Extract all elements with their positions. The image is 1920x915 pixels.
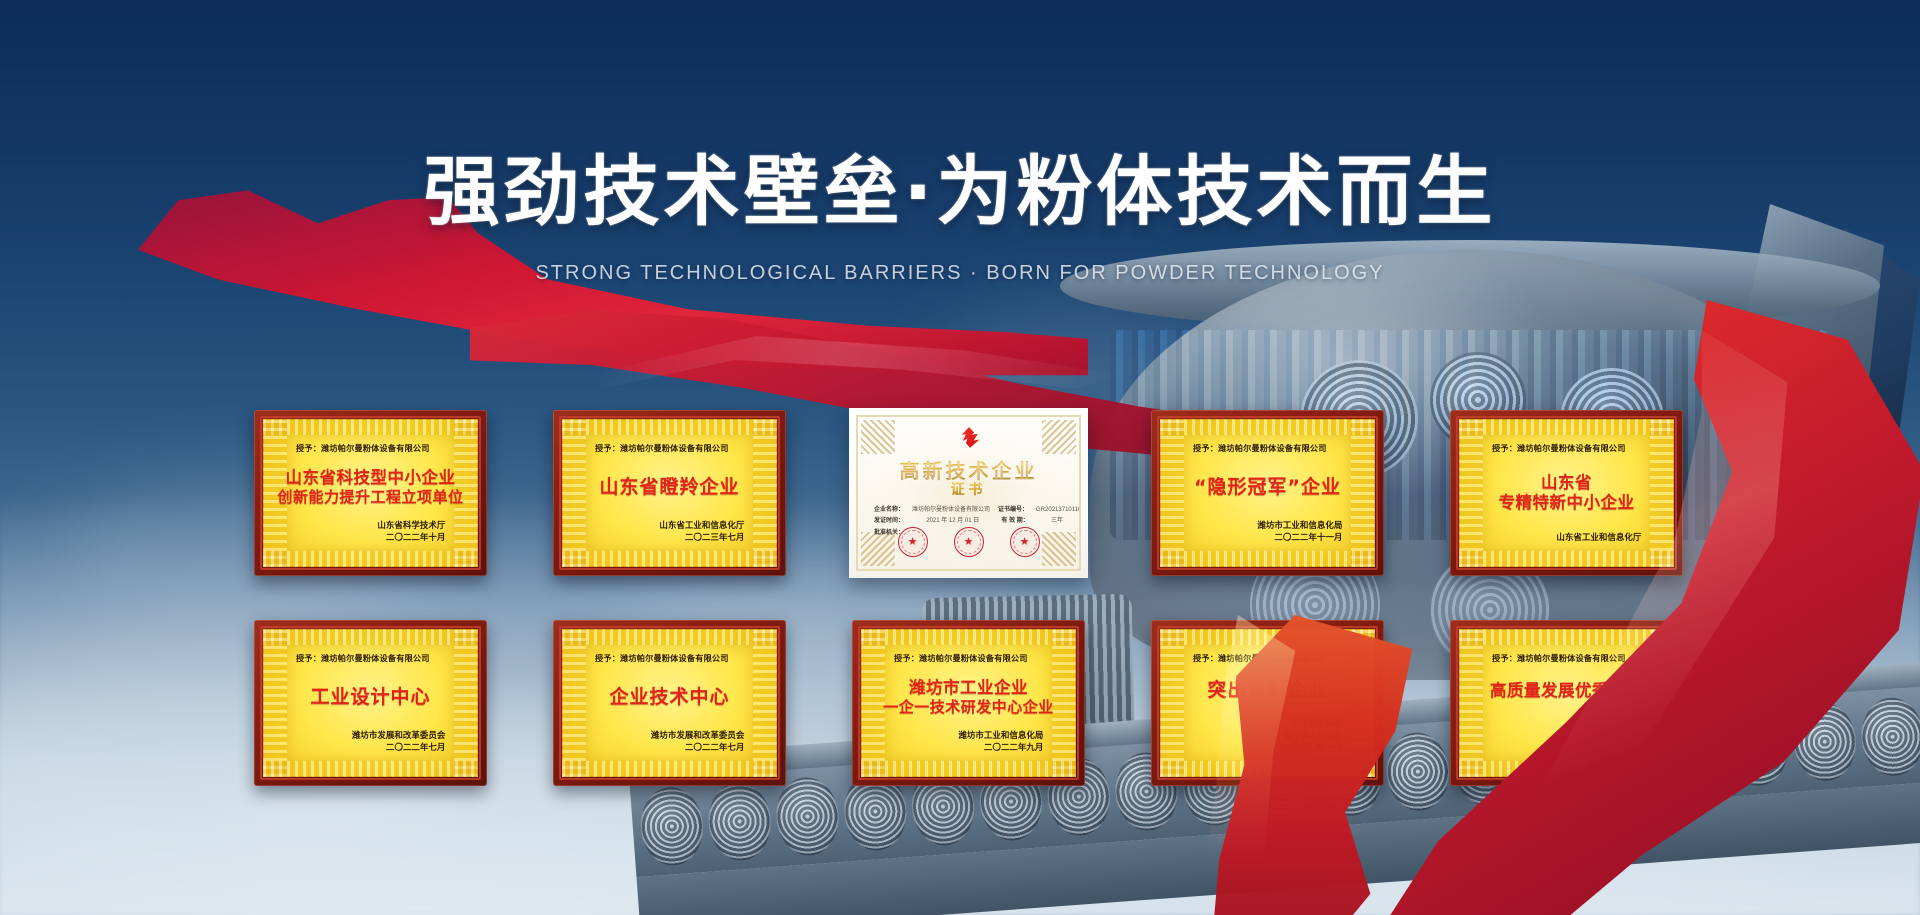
plaque-frame: 授予：潍坊帕尔曼粉体设备有限公司 潍坊市工业企业 一企一技术研发中心企业 潍坊市… — [852, 620, 1085, 786]
plaque-issuer-line-1: 山东省工业和信息化厅 — [1556, 532, 1641, 544]
plaque-issuer-line-2: 二〇二二年十月 — [377, 532, 445, 544]
plaque-frame: 授予：潍坊帕尔曼粉体设备有限公司 山东省科技型中小企业 创新能力提升工程立项单位… — [254, 410, 487, 576]
plaque-awardee: 授予：潍坊帕尔曼粉体设备有限公司 — [296, 443, 440, 455]
plaque-title-line-1: 山东省科技型中小企业 — [286, 469, 456, 487]
plaque-issuer: 潍坊市工业和信息化局 二〇二二年十一月 — [1257, 520, 1342, 545]
plaque-title-line-1: 山东省瞪羚企业 — [599, 477, 739, 498]
certificate-inner: 高新技术企业 证书 企业名称： 潍坊帕尔曼粉体设备有限公司 证书编号： GR20… — [856, 415, 1081, 571]
plaque-issuer-line-1: 中共官庄镇委 — [1283, 718, 1343, 730]
plaque-issuer-line-1: 潍坊市发展和改革委员会 — [651, 730, 745, 742]
plaque-issuer-line-1: 潍坊市发展和改革委员会 — [352, 730, 446, 742]
plaque-title: 山东省科技型中小企业 创新能力提升工程立项单位 — [296, 454, 446, 520]
plaque-issuer: 潍坊市工业和信息化局 二〇二二年九月 — [958, 730, 1043, 755]
plaque-frame: 授予：潍坊帕尔曼粉体设备有限公司 高质量发展优秀企业 新安街道总工会 新安街道办… — [1450, 620, 1683, 786]
certificate-field-value: GR202137101102 — [1036, 505, 1081, 516]
plaque-frame: 授予：潍坊帕尔曼粉体设备有限公司 企业技术中心 潍坊市发展和改革委员会 二〇二二… — [553, 620, 786, 786]
ornament-corner-icon — [861, 420, 895, 454]
page-subtitle: STRONG TECHNOLOGICAL BARRIERS · BORN FOR… — [0, 262, 1920, 285]
plaque-title-line-2: 一企一技术研发中心企业 — [883, 699, 1054, 716]
plaque-gold-surface: 授予：潍坊帕尔曼粉体设备有限公司 山东省瞪羚企业 山东省工业和信息化厅 二〇二三… — [562, 419, 777, 567]
award-item-sd-linglang[interactable]: 授予：潍坊帕尔曼粉体设备有限公司 山东省瞪羚企业 山东省工业和信息化厅 二〇二三… — [553, 410, 786, 576]
plaque-title: 工业设计中心 — [296, 664, 446, 730]
plaque-awardee: 授予：潍坊帕尔曼粉体设备有限公司 — [296, 653, 440, 665]
plaque-title: 企业技术中心 — [595, 664, 745, 730]
plaque-frame: 授予：潍坊帕尔曼粉体设备有限公司 山东省 专精特新中小企业 山东省工业和信息化厅 — [1450, 410, 1683, 576]
award-item-yinxing-guanjun[interactable]: 授予：潍坊帕尔曼粉体设备有限公司 “隐形冠军”企业 潍坊市工业和信息化局 二〇二… — [1151, 410, 1384, 576]
plaque-issuer-line-3: 二〇二三年二月 — [1582, 742, 1642, 754]
certificate-subtitle: 证书 — [858, 479, 1079, 499]
plaque-title: 潍坊市工业企业 一企一技术研发中心企业 — [894, 664, 1044, 730]
plaque-issuer: 中共官庄镇委 官庄镇人民政府 二〇二〇年一月 — [1283, 718, 1343, 755]
plaque-awardee: 授予：潍坊帕尔曼粉体设备有限公司 — [1492, 443, 1636, 455]
plaque-issuer-line-1: 潍坊市工业和信息化局 — [1257, 520, 1342, 532]
plaque-title-line-1: 工业设计中心 — [310, 687, 430, 708]
plaque-awardee: 授予：潍坊帕尔曼粉体设备有限公司 — [595, 443, 739, 455]
plaque-issuer-line-2: 二〇二二年七月 — [352, 742, 446, 754]
plaque-gold-surface: 授予：潍坊帕尔曼粉体设备有限公司 工业设计中心 潍坊市发展和改革委员会 二〇二二… — [263, 629, 478, 777]
plaque-issuer-line-2: 二〇二二年九月 — [958, 742, 1043, 754]
award-item-tuchu-gongxian[interactable]: 授予：潍坊帕尔曼粉体设备有限公司 突出贡献企业 中共官庄镇委 官庄镇人民政府 二… — [1151, 620, 1384, 786]
plaque-frame: 授予：潍坊帕尔曼粉体设备有限公司 突出贡献企业 中共官庄镇委 官庄镇人民政府 二… — [1151, 620, 1384, 786]
certificate-field-value: 潍坊帕尔曼粉体设备有限公司 — [912, 505, 990, 516]
plaque-issuer: 潍坊市发展和改革委员会 二〇二二年七月 — [352, 730, 446, 755]
plaque-issuer-line-2: 新安街道办事处 — [1582, 730, 1642, 742]
award-item-sd-kejixing-zhongxiao[interactable]: 授予：潍坊帕尔曼粉体设备有限公司 山东省科技型中小企业 创新能力提升工程立项单位… — [254, 410, 487, 576]
plaque-issuer-line-1: 新安街道总工会 — [1582, 718, 1642, 730]
awards-row-1: 授予：潍坊帕尔曼粉体设备有限公司 山东省科技型中小企业 创新能力提升工程立项单位… — [254, 410, 1684, 576]
plaque-title-line-1: 突出贡献企业 — [1207, 680, 1327, 701]
flame-emblem-icon — [956, 427, 982, 453]
award-item-yiqi-yijishu[interactable]: 授予：潍坊帕尔曼粉体设备有限公司 潍坊市工业企业 一企一技术研发中心企业 潍坊市… — [852, 620, 1085, 786]
ornament-corner-icon — [1042, 420, 1076, 454]
certificate-seals — [858, 527, 1079, 557]
plaque-frame: 授予：潍坊帕尔曼粉体设备有限公司 工业设计中心 潍坊市发展和改革委员会 二〇二二… — [254, 620, 487, 786]
plaque-issuer: 山东省科学技术厅 二〇二二年十月 — [377, 520, 445, 545]
plaque-issuer: 潍坊市发展和改革委员会 二〇二二年七月 — [651, 730, 745, 755]
plaque-issuer-line-1: 山东省科学技术厅 — [377, 520, 445, 532]
plaque-title: “隐形冠军”企业 — [1193, 454, 1343, 520]
plaque-awardee: 授予：潍坊帕尔曼粉体设备有限公司 — [1193, 653, 1337, 665]
plaque-gold-surface: 授予：潍坊帕尔曼粉体设备有限公司 突出贡献企业 中共官庄镇委 官庄镇人民政府 二… — [1160, 629, 1375, 777]
plaque-title-line-2: 创新能力提升工程立项单位 — [278, 489, 464, 506]
certificate-field-label: 企业名称： — [874, 505, 904, 516]
plaque-issuer: 山东省工业和信息化厅 — [1556, 532, 1641, 544]
plaque-issuer-line-2: 二〇二二年七月 — [651, 742, 745, 754]
award-item-zhuanjing-texin[interactable]: 授予：潍坊帕尔曼粉体设备有限公司 山东省 专精特新中小企业 山东省工业和信息化厅 — [1450, 410, 1683, 576]
official-seal-icon — [954, 527, 984, 557]
plaque-gold-surface: 授予：潍坊帕尔曼粉体设备有限公司 高质量发展优秀企业 新安街道总工会 新安街道办… — [1459, 629, 1674, 777]
plaque-awardee: 授予：潍坊帕尔曼粉体设备有限公司 — [595, 653, 739, 665]
plaque-title: 高质量发展优秀企业 — [1492, 664, 1642, 718]
plaque-title: 山东省瞪羚企业 — [595, 454, 745, 520]
official-seal-icon — [1010, 527, 1040, 557]
plaque-issuer-line-3: 二〇二〇年一月 — [1283, 742, 1343, 754]
certificate-field-label: 证书编号： — [998, 505, 1028, 516]
plaque-issuer-line-2: 二〇二三年七月 — [659, 532, 744, 544]
plaque-gold-surface: 授予：潍坊帕尔曼粉体设备有限公司 企业技术中心 潍坊市发展和改革委员会 二〇二二… — [562, 629, 777, 777]
award-item-gaozhiliang-fazhan[interactable]: 授予：潍坊帕尔曼粉体设备有限公司 高质量发展优秀企业 新安街道总工会 新安街道办… — [1450, 620, 1683, 786]
plaque-title-line-1: 高质量发展优秀企业 — [1490, 682, 1643, 700]
plaque-gold-surface: 授予：潍坊帕尔曼粉体设备有限公司 山东省 专精特新中小企业 山东省工业和信息化厅 — [1459, 419, 1674, 567]
plaque-issuer-line-2: 二〇二二年十一月 — [1257, 532, 1342, 544]
plaque-issuer: 山东省工业和信息化厅 二〇二三年七月 — [659, 520, 744, 545]
awards-row-2: 授予：潍坊帕尔曼粉体设备有限公司 工业设计中心 潍坊市发展和改革委员会 二〇二二… — [254, 620, 1684, 786]
certificate-card: 高新技术企业 证书 企业名称： 潍坊帕尔曼粉体设备有限公司 证书编号： GR20… — [849, 408, 1088, 578]
plaque-gold-surface: 授予：潍坊帕尔曼粉体设备有限公司 山东省科技型中小企业 创新能力提升工程立项单位… — [263, 419, 478, 567]
plaque-issuer: 新安街道总工会 新安街道办事处 二〇二三年二月 — [1582, 718, 1642, 755]
award-item-gaoxin-jishu-qiye[interactable]: 高新技术企业 证书 企业名称： 潍坊帕尔曼粉体设备有限公司 证书编号： GR20… — [852, 410, 1085, 576]
award-item-qiye-jishu-zhongxin[interactable]: 授予：潍坊帕尔曼粉体设备有限公司 企业技术中心 潍坊市发展和改革委员会 二〇二二… — [553, 620, 786, 786]
awards-grid: 授予：潍坊帕尔曼粉体设备有限公司 山东省科技型中小企业 创新能力提升工程立项单位… — [254, 410, 1684, 786]
plaque-title-line-2: 专精特新中小企业 — [1499, 494, 1635, 512]
plaque-issuer-line-1: 潍坊市工业和信息化局 — [958, 730, 1043, 742]
page-title: 强劲技术壁垒·为粉体技术而生 — [0, 130, 1920, 240]
plaque-frame: 授予：潍坊帕尔曼粉体设备有限公司 “隐形冠军”企业 潍坊市工业和信息化局 二〇二… — [1151, 410, 1384, 576]
plaque-title-line-1: 企业技术中心 — [609, 687, 729, 708]
banner-stage: 强劲技术壁垒·为粉体技术而生 STRONG TECHNOLOGICAL BARR… — [0, 0, 1920, 915]
plaque-frame: 授予：潍坊帕尔曼粉体设备有限公司 山东省瞪羚企业 山东省工业和信息化厅 二〇二三… — [553, 410, 786, 576]
plaque-issuer-line-1: 山东省工业和信息化厅 — [659, 520, 744, 532]
plaque-awardee: 授予：潍坊帕尔曼粉体设备有限公司 — [1492, 653, 1636, 665]
plaque-awardee: 授予：潍坊帕尔曼粉体设备有限公司 — [894, 653, 1038, 665]
plaque-gold-surface: 授予：潍坊帕尔曼粉体设备有限公司 “隐形冠军”企业 潍坊市工业和信息化局 二〇二… — [1160, 419, 1375, 567]
plaque-title-line-1: 山东省 — [1541, 474, 1592, 492]
plaque-gold-surface: 授予：潍坊帕尔曼粉体设备有限公司 潍坊市工业企业 一企一技术研发中心企业 潍坊市… — [861, 629, 1076, 777]
plaque-title: 山东省 专精特新中小企业 — [1492, 454, 1642, 532]
award-item-gongye-sheji-zhongxin[interactable]: 授予：潍坊帕尔曼粉体设备有限公司 工业设计中心 潍坊市发展和改革委员会 二〇二二… — [254, 620, 487, 786]
plaque-title: 突出贡献企业 — [1193, 664, 1343, 718]
plaque-issuer-line-2: 官庄镇人民政府 — [1283, 730, 1343, 742]
official-seal-icon — [898, 527, 928, 557]
plaque-awardee: 授予：潍坊帕尔曼粉体设备有限公司 — [1193, 443, 1337, 455]
plaque-title-line-1: 潍坊市工业企业 — [909, 679, 1028, 697]
plaque-title-line-1: “隐形冠军”企业 — [1194, 477, 1341, 498]
